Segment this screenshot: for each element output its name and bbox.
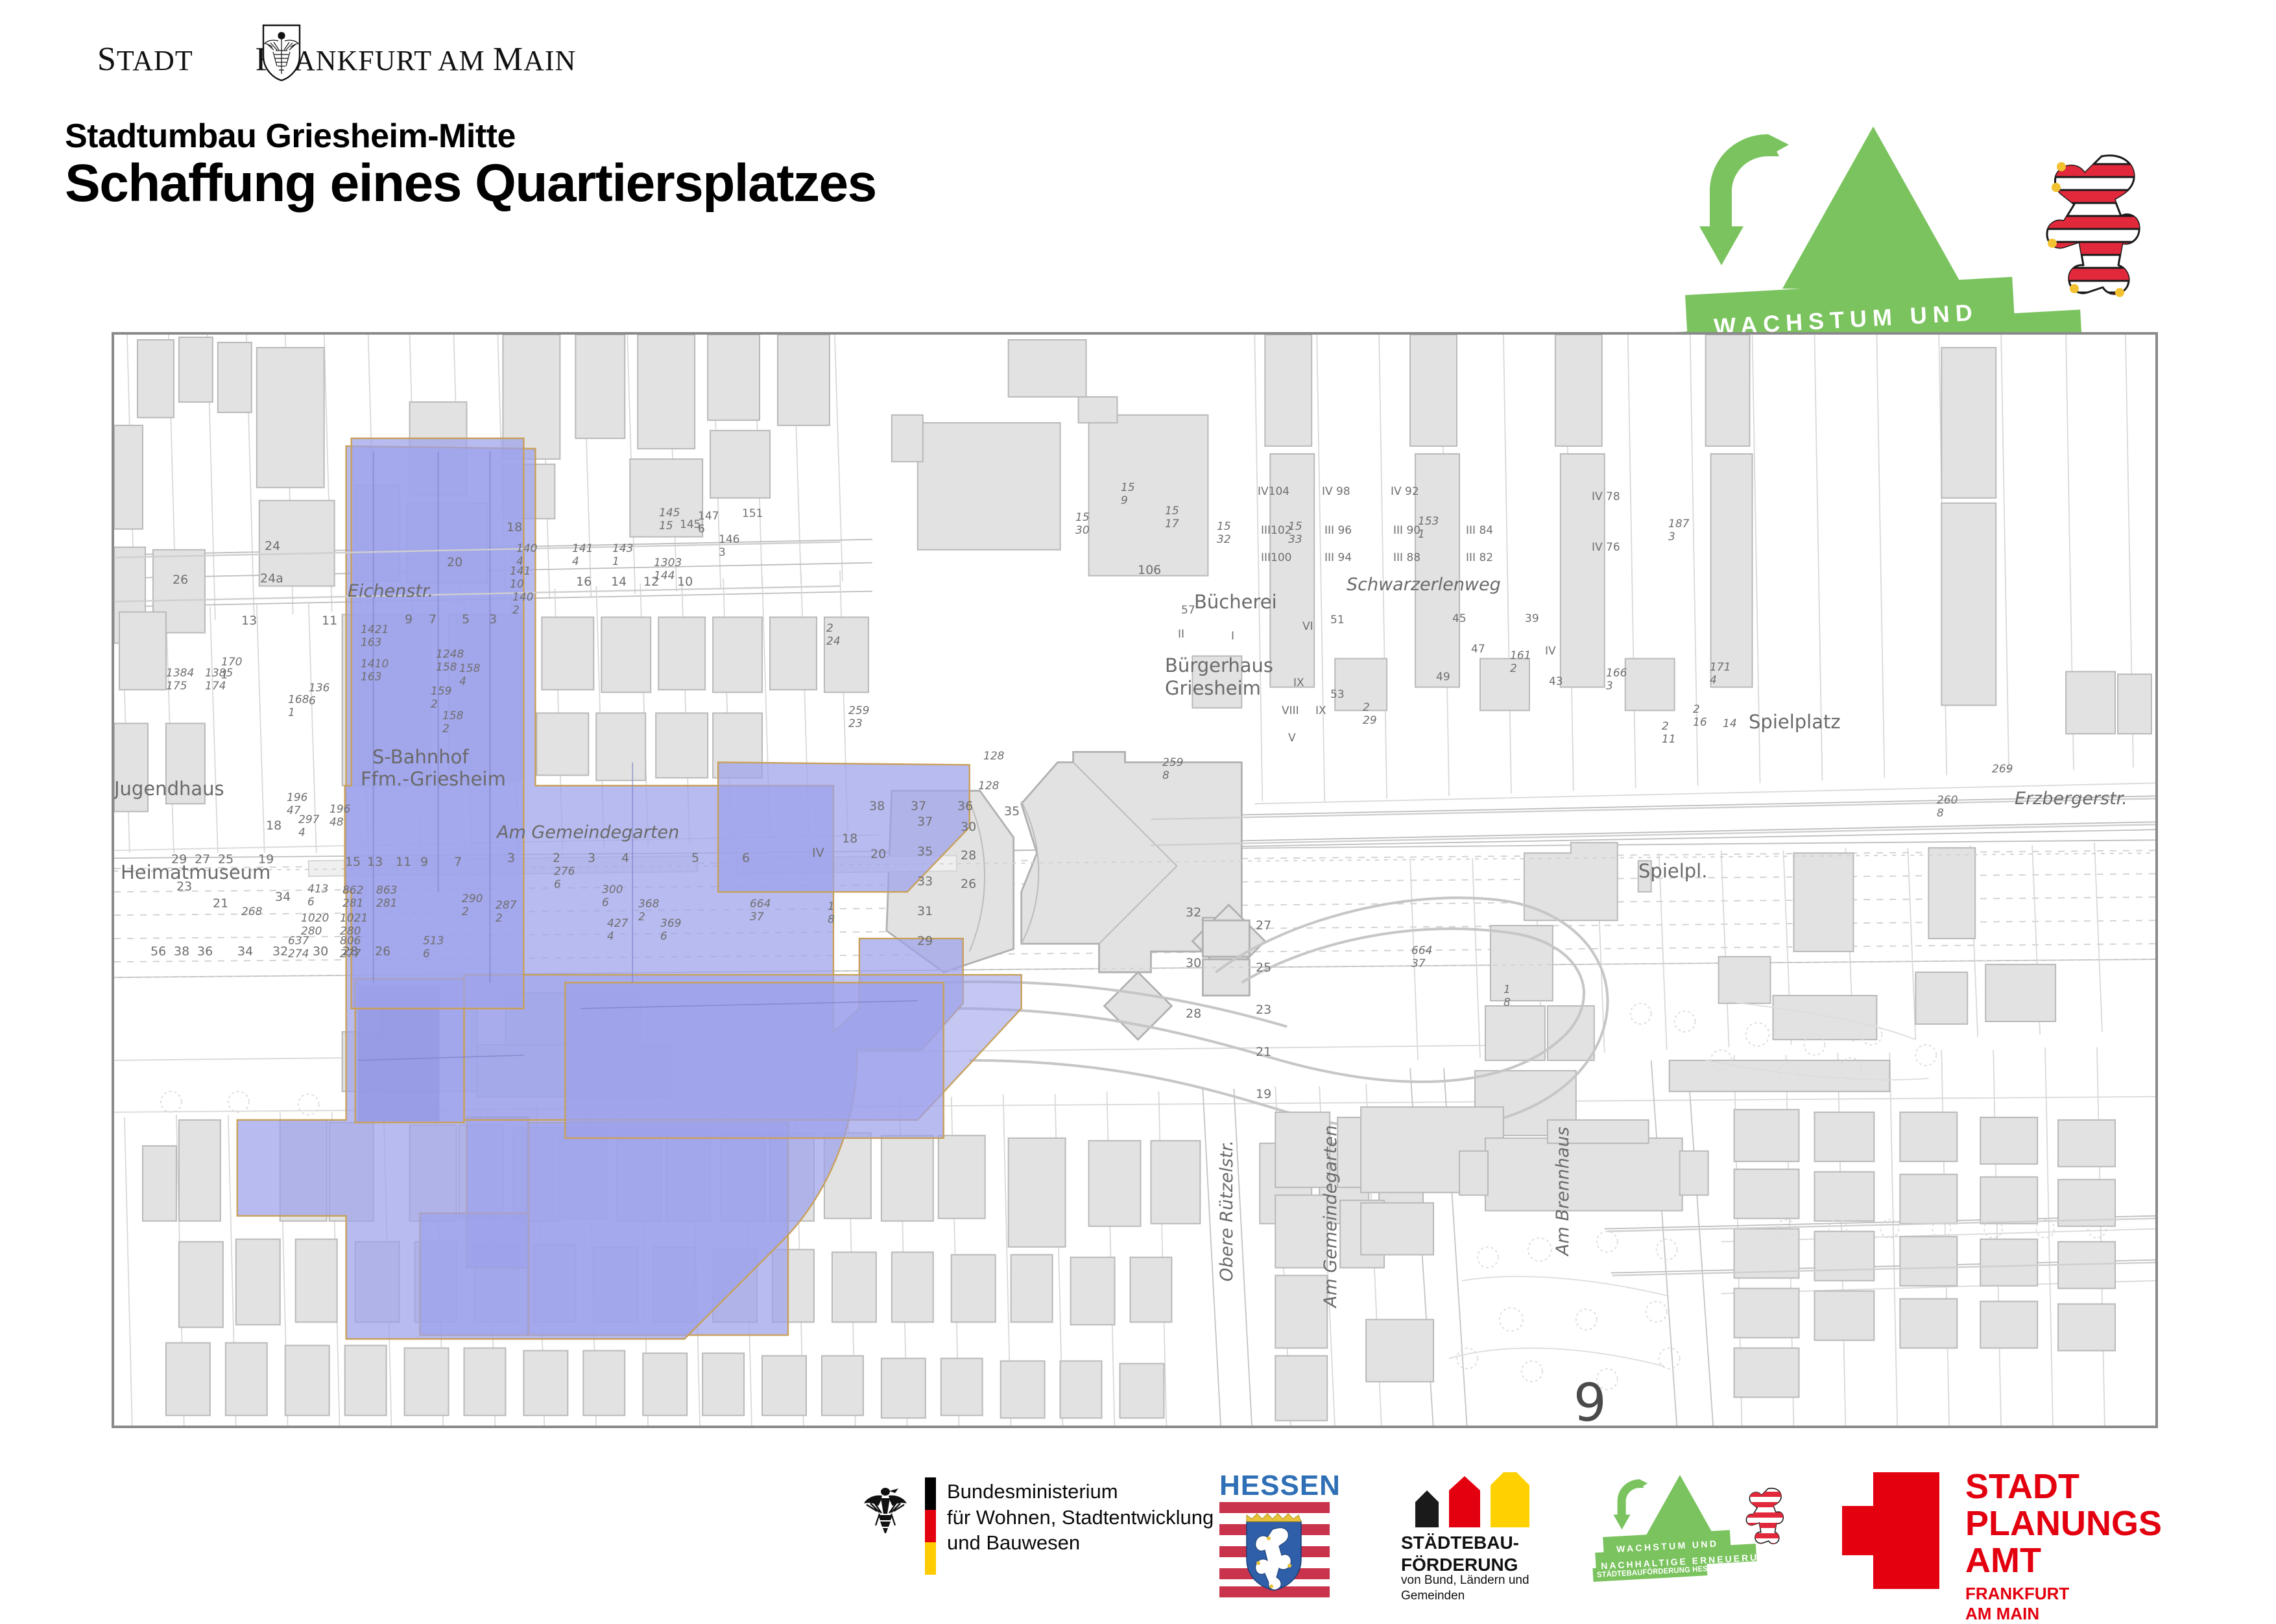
poster-root: STADTFRANKFURT AM MAIN Stadtumbau Griesh…: [0, 0, 2276, 1608]
stadtplanungsamt-wordmark: STADT PLANUNGS AMT: [1965, 1468, 2162, 1580]
bmwsb-line-3: und Bauwesen: [947, 1530, 1214, 1556]
city-logo-wordmark: STADTFRANKFURT AM MAIN: [97, 40, 576, 78]
staedtebau-sub-2: Gemeinden: [1401, 1588, 1529, 1604]
hessen-logo: HESSEN: [1219, 1470, 1330, 1502]
stadtplanungsamt-line-3: AMT: [1965, 1542, 2162, 1579]
federal-eagle-icon: [863, 1483, 908, 1538]
bmwsb-wordmark: Bundesministerium für Wohnen, Stadtentwi…: [947, 1479, 1214, 1556]
hessen-wordmark: HESSEN: [1219, 1470, 1330, 1502]
staedtebau-subtitle: von Bund, Ländern und Gemeinden: [1401, 1573, 1529, 1604]
stadtplanungsamt-line-1: STADT: [1965, 1468, 2162, 1505]
stadtplanungsamt-subtitle: FRANKFURT AM MAIN: [1965, 1584, 2069, 1624]
german-flag-bar: [925, 1477, 936, 1575]
city-of-frankfurt-logo: STADTFRANKFURT AM MAIN: [97, 31, 512, 83]
poster-kicker: Stadtumbau Griesheim-Mitte: [65, 117, 516, 156]
stadtplanungsamt-line-2: PLANUNGS: [1965, 1505, 2162, 1542]
three-houses-icon: [1410, 1472, 1540, 1527]
hessen-coat-of-arms-icon: [1219, 1502, 1330, 1595]
wachstum-logo-small: WACHSTUM UND NACHHALTIGE ERNEUERUNG STÄD…: [1609, 1474, 1797, 1577]
hessen-lion-icon: [2024, 145, 2153, 313]
hessen-lion-icon-small: [1737, 1484, 1789, 1551]
site-plan-map[interactable]: 9 Eichenstr. Schwarzerlenweg Am Gemeinde…: [112, 332, 2158, 1428]
page-title: Schaffung eines Quartiersplatzes: [65, 156, 876, 211]
bmwsb-line-2: für Wohnen, Stadtentwicklung: [947, 1505, 1214, 1531]
staedtebau-title: STÄDTEBAU- FÖRDERUNG: [1401, 1532, 1519, 1575]
frankfurt-city-mark-icon: [1842, 1472, 1939, 1589]
svg-text:9: 9: [1574, 1372, 1607, 1428]
staedtebau-line-1: STÄDTEBAU-: [1401, 1532, 1519, 1554]
map-canvas: 9: [114, 335, 2155, 1428]
staedtebau-sub-1: von Bund, Ländern und: [1401, 1573, 1529, 1588]
bmwsb-line-1: Bundesministerium: [947, 1479, 1214, 1505]
frankfurt-eagle-shield-icon: [261, 23, 302, 82]
funding-logos-bar: Bundesministerium für Wohnen, Stadtentwi…: [0, 1464, 2276, 1601]
